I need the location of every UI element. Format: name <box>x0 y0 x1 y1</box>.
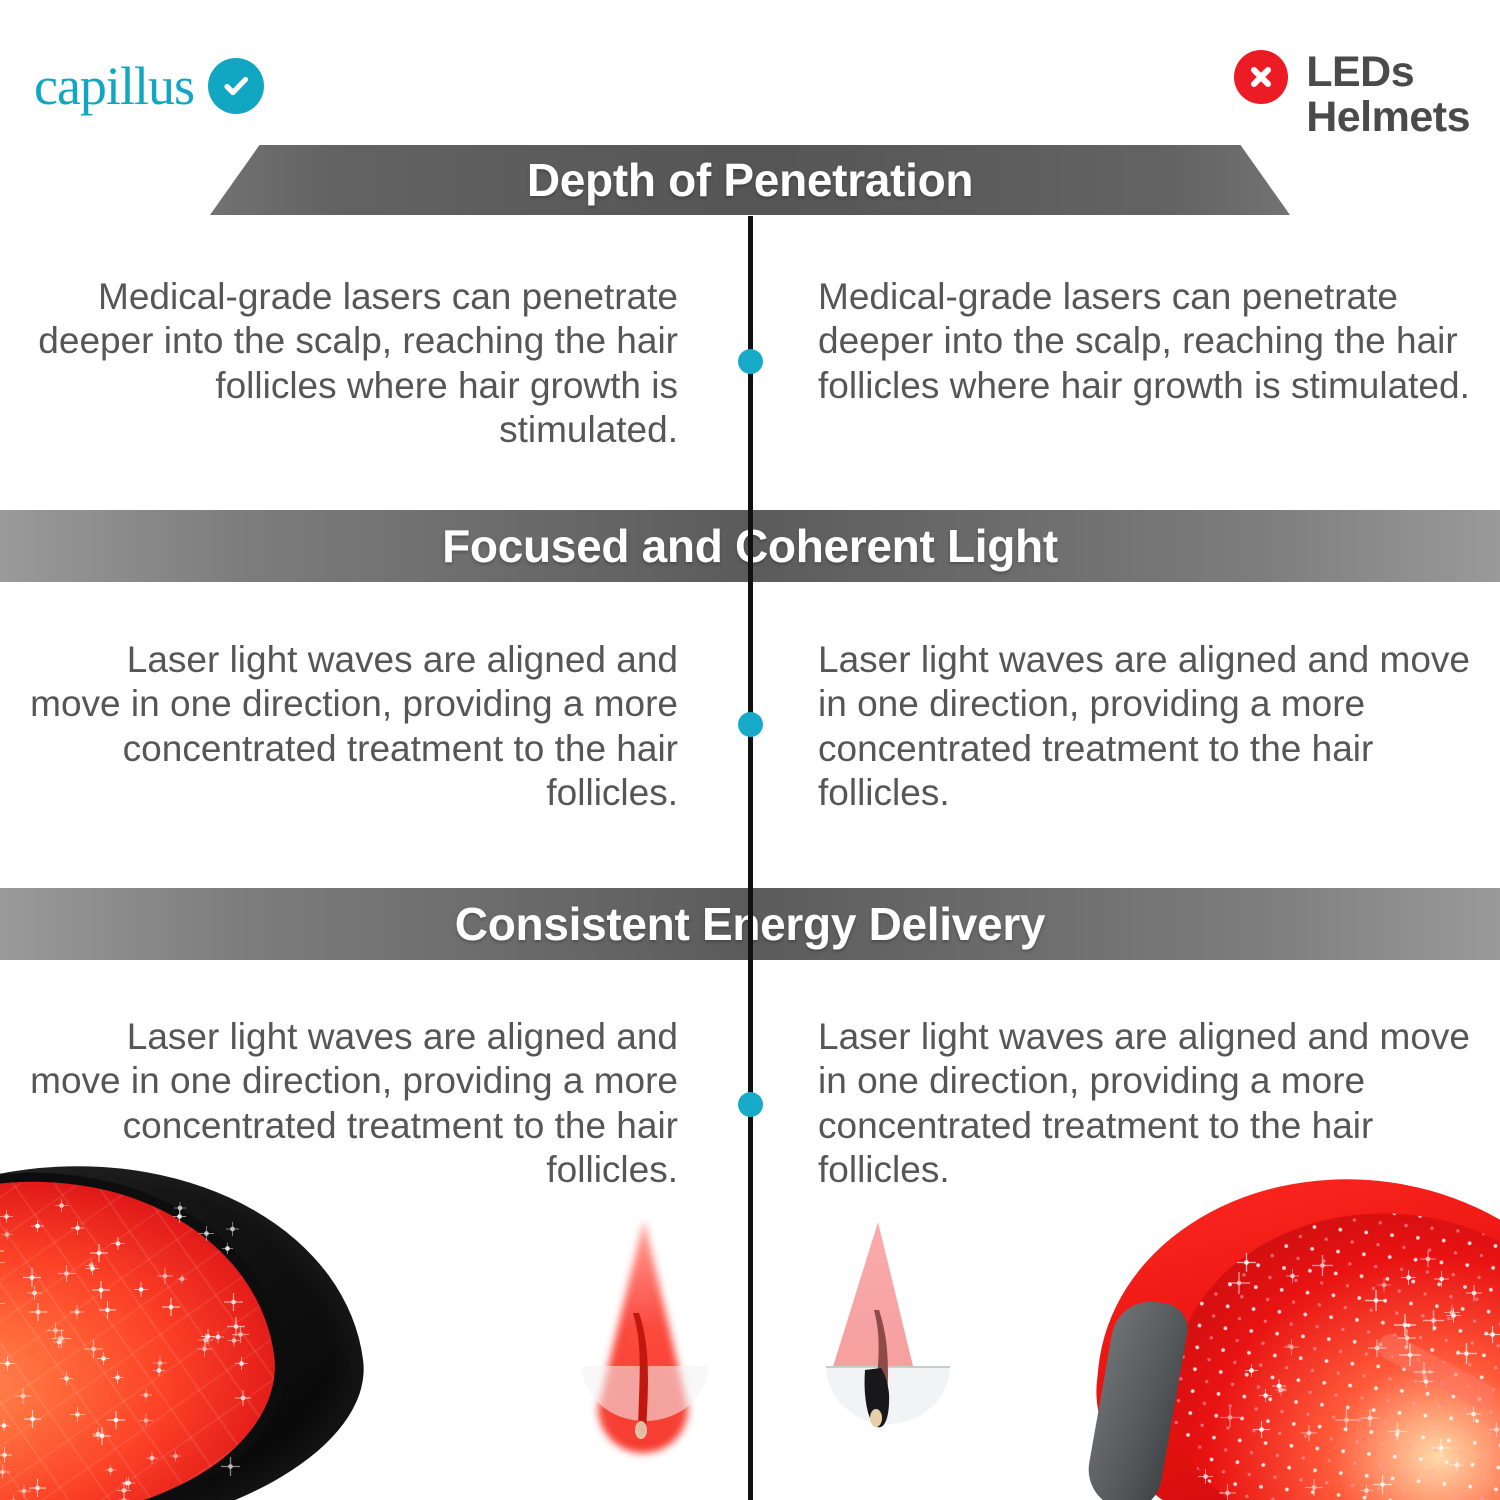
comparison-infographic: capillus LEDs Helmets Depth of Penetrati… <box>0 0 1500 1500</box>
connector-dot-1 <box>738 349 763 374</box>
capillus-laser-cap-image <box>0 1168 380 1500</box>
center-divider <box>748 216 753 1500</box>
connector-dot-2 <box>738 712 763 737</box>
led-helmet-image <box>1060 1180 1500 1500</box>
shallow-penetration-follicle-diagram <box>818 1218 968 1488</box>
deep-penetration-follicle-diagram <box>570 1218 720 1488</box>
leds-helmets-label: LEDs Helmets <box>1306 50 1470 140</box>
capillus-wordmark: capillus <box>34 59 194 113</box>
connector-dot-3 <box>738 1092 763 1117</box>
section-1-left-text: Medical-grade lasers can penetrate deepe… <box>28 275 678 453</box>
check-badge-icon <box>208 58 264 114</box>
section-title-1: Depth of Penetration <box>527 153 973 207</box>
section-banner-1: Depth of Penetration <box>0 145 1500 215</box>
section-1-right-cell: Medical-grade lasers can penetrate deepe… <box>750 275 1500 453</box>
capillus-brand: capillus <box>34 58 264 114</box>
leds-helmets-brand: LEDs Helmets <box>1234 50 1470 140</box>
section-3-left-text: Laser light waves are aligned and move i… <box>28 1015 678 1193</box>
section-1-right-text: Medical-grade lasers can penetrate deepe… <box>818 275 1472 408</box>
leds-line2: Helmets <box>1306 93 1470 141</box>
section-2-right-text: Laser light waves are aligned and move i… <box>818 638 1472 816</box>
section-3-right-cell: Laser light waves are aligned and move i… <box>750 1015 1500 1193</box>
section-1-left-cell: Medical-grade lasers can penetrate deepe… <box>0 275 750 453</box>
section-2-left-cell: Laser light waves are aligned and move i… <box>0 638 750 816</box>
section-2-right-cell: Laser light waves are aligned and move i… <box>750 638 1500 816</box>
leds-line1: LEDs <box>1306 48 1414 96</box>
helmet-led-array <box>1158 1192 1500 1500</box>
x-badge-icon <box>1234 50 1288 104</box>
section-3-right-text: Laser light waves are aligned and move i… <box>818 1015 1472 1193</box>
section-3-left-cell: Laser light waves are aligned and move i… <box>0 1015 750 1193</box>
section-2-left-text: Laser light waves are aligned and move i… <box>28 638 678 816</box>
